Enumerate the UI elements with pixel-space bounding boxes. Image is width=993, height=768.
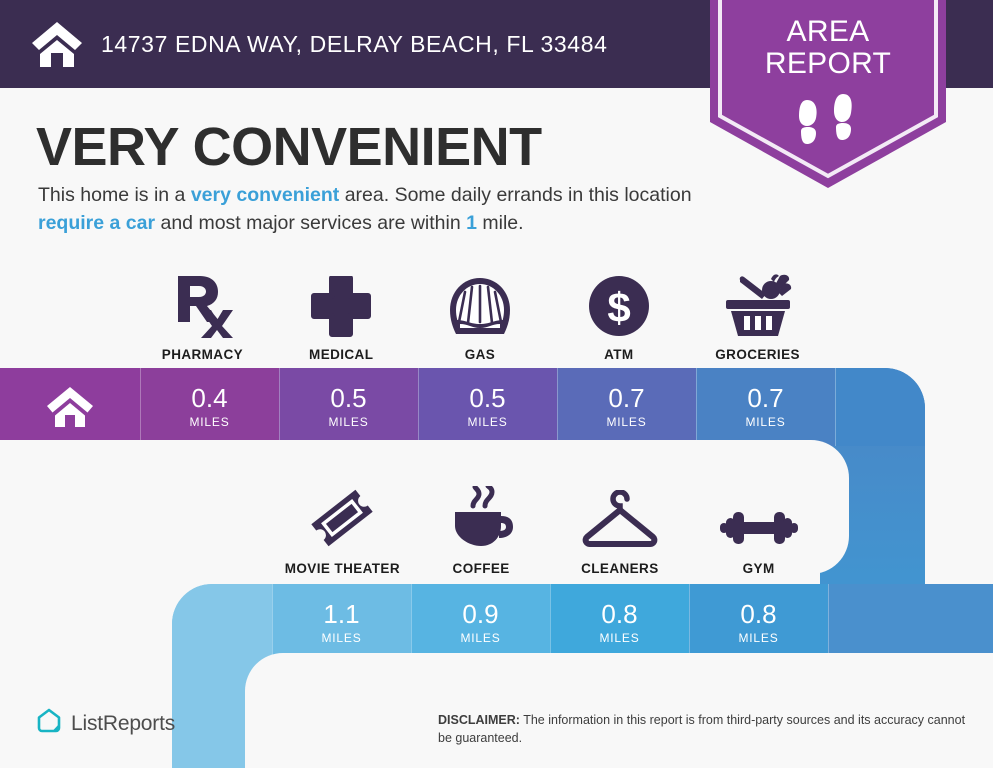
hanger-icon [581,484,659,552]
groceries-basket-icon [722,270,794,338]
home-icon [45,385,95,429]
amenity-icon-row-secondary: MOVIE THEATER COFFEE [273,474,828,576]
gas-shell-icon [448,270,512,338]
distance-value: 0.7 [608,385,644,411]
summary-part1: This home is in a [38,184,191,206]
badge-title-line1: AREA [710,16,946,48]
disclaimer: DISCLAIMER: The information in this repo… [438,712,978,748]
amenity-pharmacy: PHARMACY [133,262,272,362]
amenity-groceries: GROCERIES [688,262,827,362]
amenity-atm: $ ATM [549,262,688,362]
distance-cell-pharmacy: 0.4 MILES [140,368,279,446]
distance-bar-secondary: 1.1 MILES 0.9 MILES 0.8 MILES 0.8 MILES [172,584,993,662]
headline-title: VERY CONVENIENT [36,116,542,178]
disclaimer-label: DISCLAIMER: [438,713,520,727]
distance-value: 1.1 [323,601,359,627]
amenity-movie-theater: MOVIE THEATER [273,474,412,576]
summary-highlight-distance: 1 [466,212,477,234]
movie-ticket-icon [308,484,376,552]
badge-title: AREA REPORT [710,16,946,81]
distance-unit: MILES [460,631,500,645]
distance-value: 0.5 [330,385,366,411]
amenity-gym: GYM [689,474,828,576]
distance-cell-groceries: 0.7 MILES [696,368,835,446]
atm-dollar-icon: $ [587,270,651,338]
distance-cell-cleaners: 0.8 MILES [550,584,689,662]
distance-value: 0.8 [601,601,637,627]
summary-part2: area. Some daily errands in this locatio… [339,184,691,206]
summary-text: This home is in a very convenient area. … [38,182,703,238]
summary-part3: and most major services are within [155,212,466,234]
badge-title-line2: REPORT [710,48,946,80]
footprints-icon [710,92,946,156]
distance-unit: MILES [321,631,361,645]
distance-unit: MILES [189,415,229,429]
amenity-label: MEDICAL [309,347,373,362]
listreports-logo[interactable]: ListReports [36,708,175,739]
amenity-label: COFFEE [453,561,510,576]
distance-cell-movie-theater: 1.1 MILES [272,584,411,662]
distance-value: 0.4 [191,385,227,411]
distance-cell-atm: 0.7 MILES [557,368,696,446]
page-title: 14737 EDNA WAY, DELRAY BEACH, FL 33484 [101,31,607,58]
home-icon [30,19,84,69]
bar-tail-secondary [828,584,993,662]
listreports-home-pin-icon [36,708,62,739]
area-report-page: 14737 EDNA WAY, DELRAY BEACH, FL 33484 A… [0,0,993,768]
summary-highlight-convenience: very convenient [191,184,339,206]
svg-text:$: $ [607,284,630,331]
distance-cell-gas: 0.5 MILES [418,368,557,446]
distance-unit: MILES [328,415,368,429]
amenity-label: ATM [604,347,633,362]
distance-value: 0.8 [740,601,776,627]
amenity-label: GAS [465,347,495,362]
amenity-label: GYM [743,561,775,576]
area-report-badge: AREA REPORT [710,0,946,188]
amenity-gas: GAS [411,262,550,362]
amenity-label: CLEANERS [581,561,658,576]
amenity-coffee: COFFEE [412,474,551,576]
distance-unit: MILES [467,415,507,429]
distance-bar-primary: 0.4 MILES 0.5 MILES 0.5 MILES 0.7 MILES … [0,368,925,446]
bar-lead-secondary [172,584,272,662]
dumbbell-icon [719,484,799,552]
distance-unit: MILES [606,415,646,429]
amenity-icon-row-primary: PHARMACY MEDICAL [133,262,827,362]
distance-value: 0.9 [462,601,498,627]
amenity-label: PHARMACY [162,347,243,362]
amenity-cleaners: CLEANERS [551,474,690,576]
summary-part4: mile. [477,212,524,234]
amenity-medical: MEDICAL [272,262,411,362]
listreports-logo-text: ListReports [71,712,175,736]
amenity-label: MOVIE THEATER [285,561,400,576]
pharmacy-rx-icon [170,270,234,338]
distance-cell-medical: 0.5 MILES [279,368,418,446]
distance-unit: MILES [599,631,639,645]
amenity-label: GROCERIES [715,347,800,362]
distance-unit: MILES [738,631,778,645]
distance-unit: MILES [745,415,785,429]
distance-cell-coffee: 0.9 MILES [411,584,550,662]
distance-cell-gym: 0.8 MILES [689,584,828,662]
summary-highlight-car: require a car [38,212,155,234]
distance-value: 0.7 [747,385,783,411]
coffee-cup-icon [449,484,513,552]
content-panel-bottom [245,653,993,768]
distance-value: 0.5 [469,385,505,411]
bar-tail-primary [835,368,925,446]
bar-home-cell [0,368,140,446]
medical-cross-icon [310,270,372,338]
